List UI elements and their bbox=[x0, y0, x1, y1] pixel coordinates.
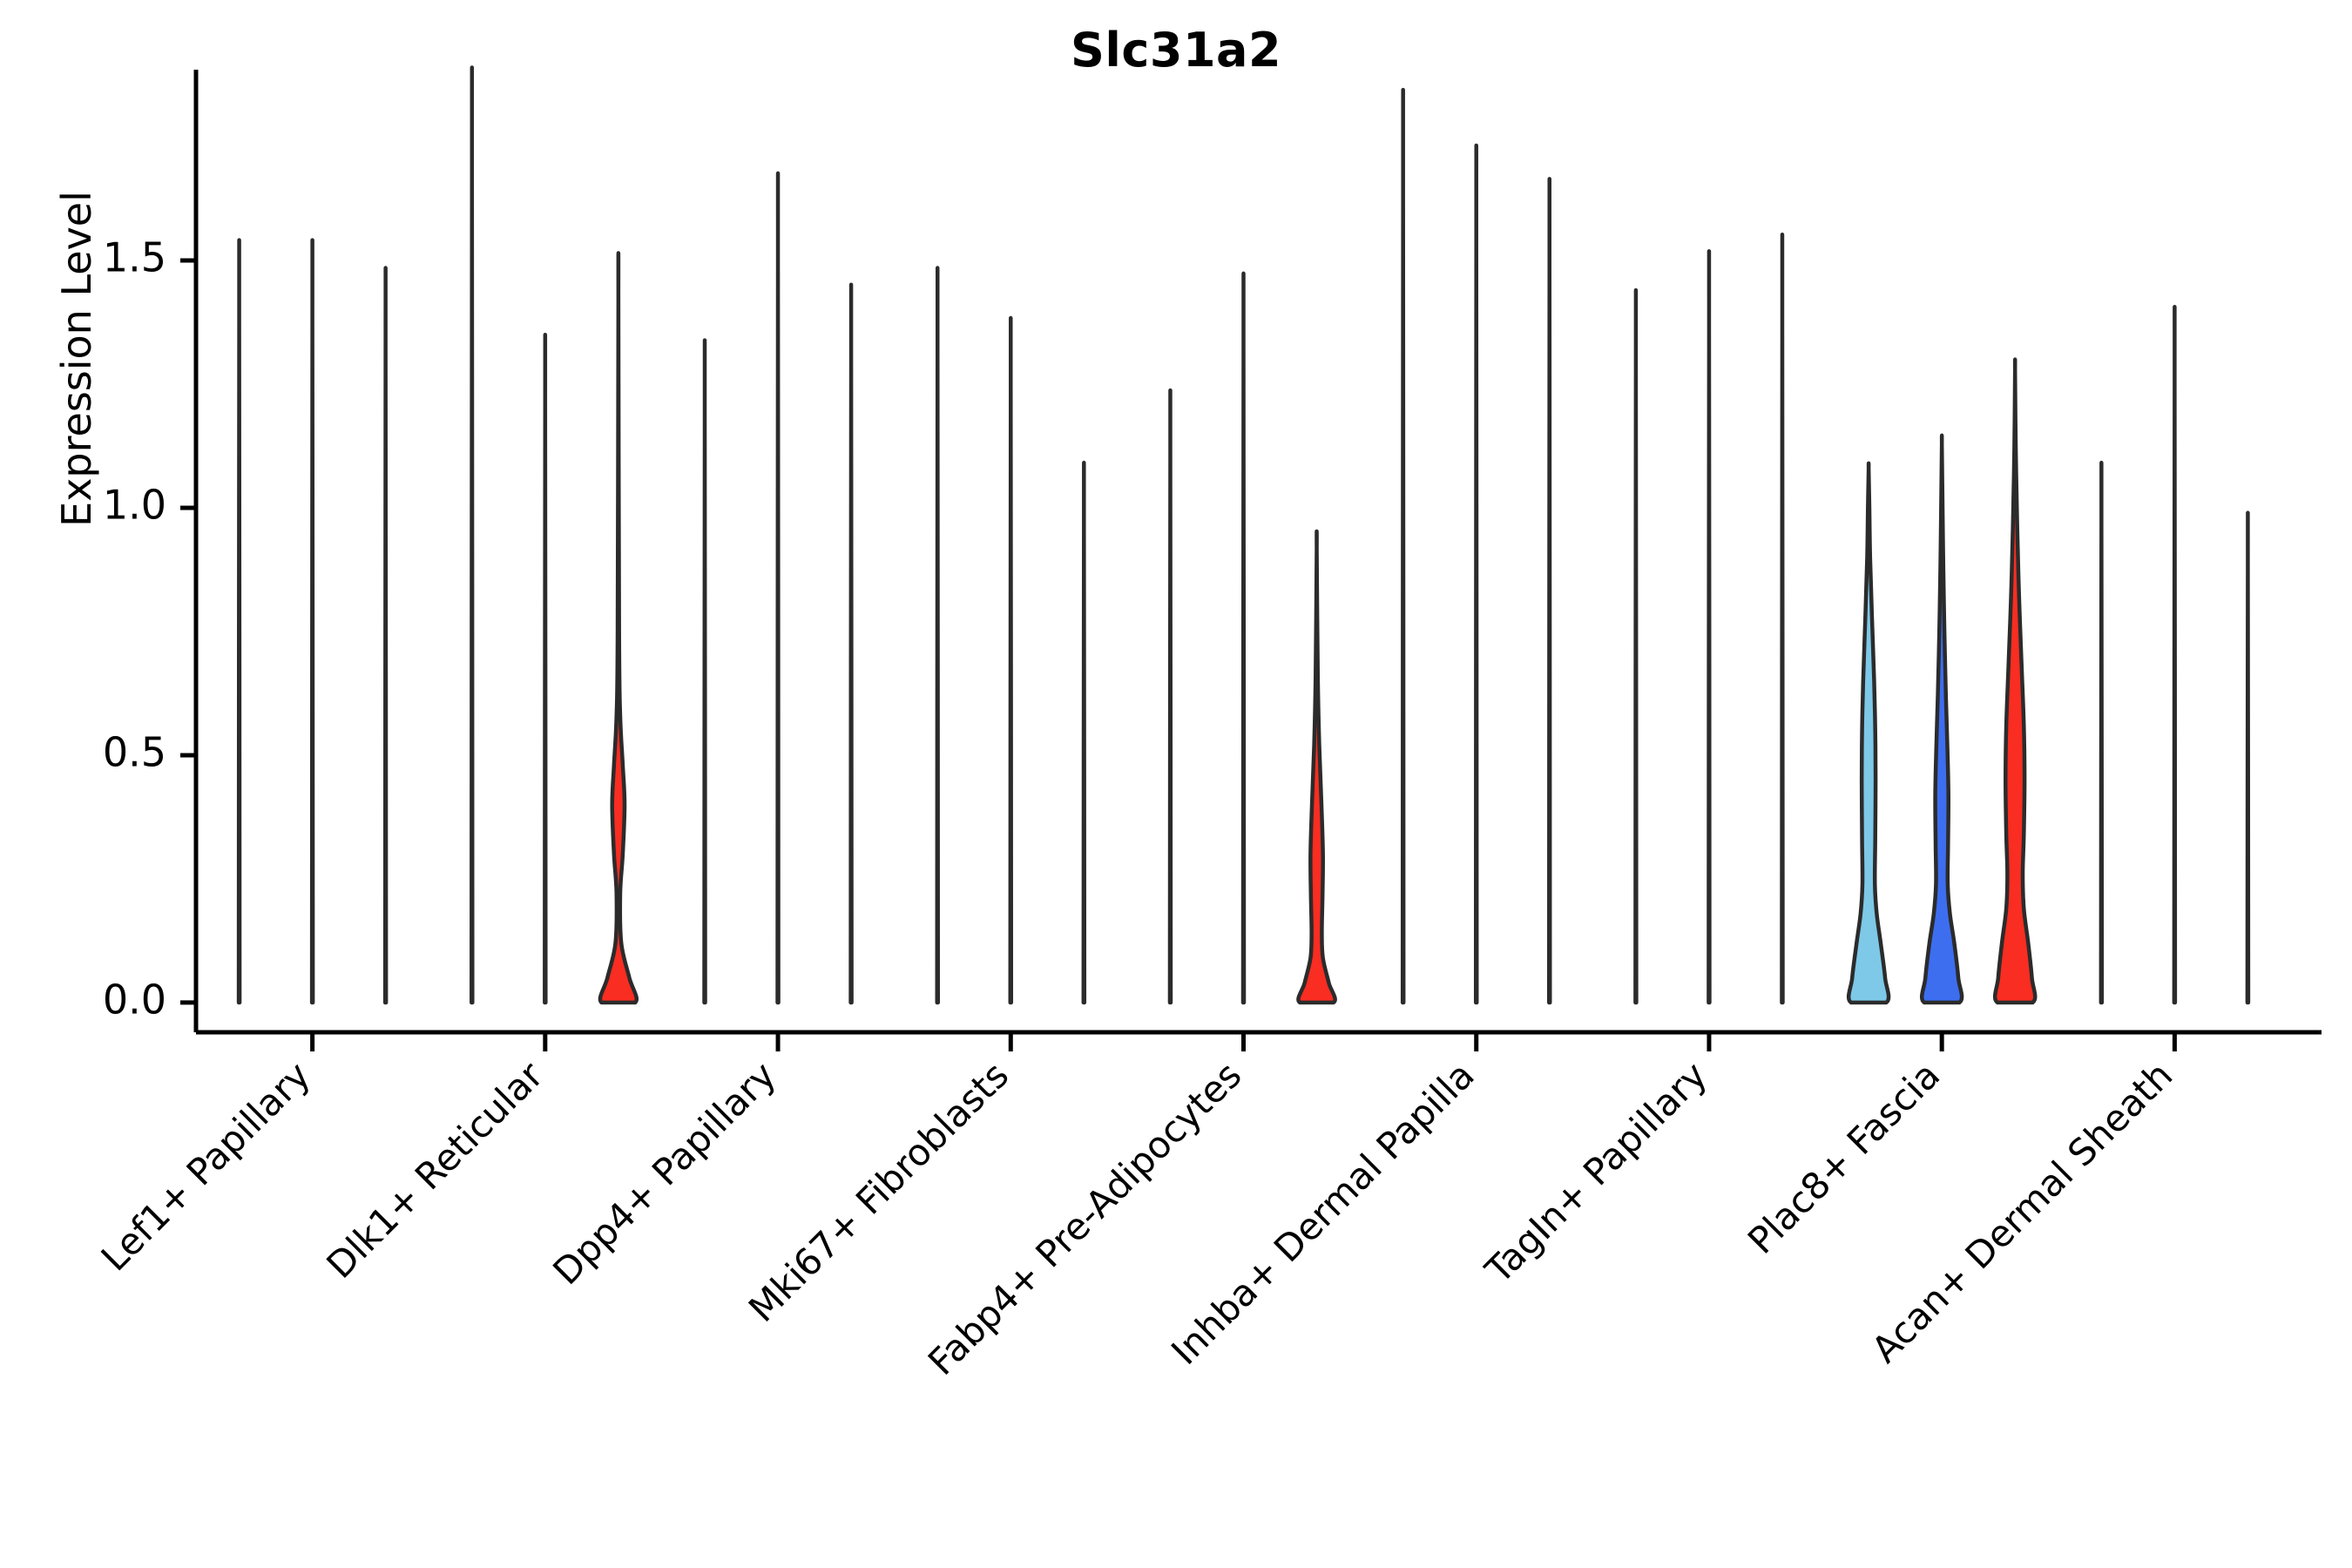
violin-lightblue bbox=[705, 341, 706, 1003]
violin-blue bbox=[1243, 274, 1244, 1003]
violin-blue bbox=[1476, 145, 1477, 1003]
violin-lightblue bbox=[937, 268, 938, 1003]
violin-blue bbox=[312, 240, 313, 1003]
violin-blue bbox=[1010, 318, 1011, 1003]
violin-red bbox=[600, 253, 637, 1003]
y-tick-label: 0.0 bbox=[103, 976, 166, 1023]
violin-blue bbox=[778, 173, 779, 1003]
x-tick-label-2: Dpp4+ Papillary bbox=[544, 1053, 784, 1293]
y-tick-label: 1.5 bbox=[103, 234, 166, 281]
violin-blue bbox=[1922, 436, 1962, 1003]
violin-blue bbox=[544, 335, 545, 1003]
plot-canvas: 0.00.51.01.5 Lef1+ PapillaryDlk1+ Reticu… bbox=[0, 0, 2352, 1568]
violin-plot-svg: 0.00.51.01.5 Lef1+ PapillaryDlk1+ Reticu… bbox=[0, 0, 2352, 1568]
x-tick-label-3: Mki67+ Fibroblasts bbox=[740, 1053, 1017, 1329]
x-tick-label-7: Plac8+ Fascia bbox=[1740, 1053, 1948, 1261]
violin-red bbox=[1549, 179, 1550, 1003]
x-tick-label-1: Dlk1+ Reticular bbox=[318, 1053, 551, 1287]
violin-lightblue bbox=[471, 68, 472, 1003]
x-tick-label-6: TagIn+ Papillary bbox=[1477, 1053, 1715, 1292]
x-tick-label-0: Lef1+ Papillary bbox=[93, 1053, 319, 1279]
violin-lightblue bbox=[1635, 290, 1636, 1003]
violin-red bbox=[851, 285, 852, 1003]
violin-blue bbox=[2174, 307, 2175, 1003]
violin-red bbox=[1995, 360, 2035, 1003]
violin-lightblue bbox=[2101, 463, 2102, 1003]
violin-red bbox=[1298, 531, 1335, 1003]
violin-red bbox=[1781, 234, 1782, 1003]
violin-lightblue bbox=[1848, 463, 1889, 1003]
violin-blue bbox=[1708, 251, 1709, 1003]
violin-red bbox=[1084, 463, 1085, 1003]
violin-lightblue bbox=[1170, 390, 1171, 1003]
violins-layer bbox=[239, 68, 2248, 1003]
violin-plot-figure: Slc31a2 Expression Level 0.00.51.01.5 Le… bbox=[0, 0, 2352, 1568]
x-tick-labels: Lef1+ PapillaryDlk1+ ReticularDpp4+ Papi… bbox=[93, 1053, 2181, 1383]
axes-layer bbox=[180, 70, 2322, 1051]
y-tick-label: 0.5 bbox=[103, 728, 166, 775]
y-tick-label: 1.0 bbox=[103, 481, 166, 528]
violin-lightblue bbox=[1402, 90, 1403, 1003]
violin-red bbox=[2247, 513, 2248, 1003]
y-tick-labels: 0.00.51.01.5 bbox=[103, 234, 166, 1024]
violin-red bbox=[385, 268, 386, 1003]
violin-lightblue bbox=[239, 240, 240, 1003]
